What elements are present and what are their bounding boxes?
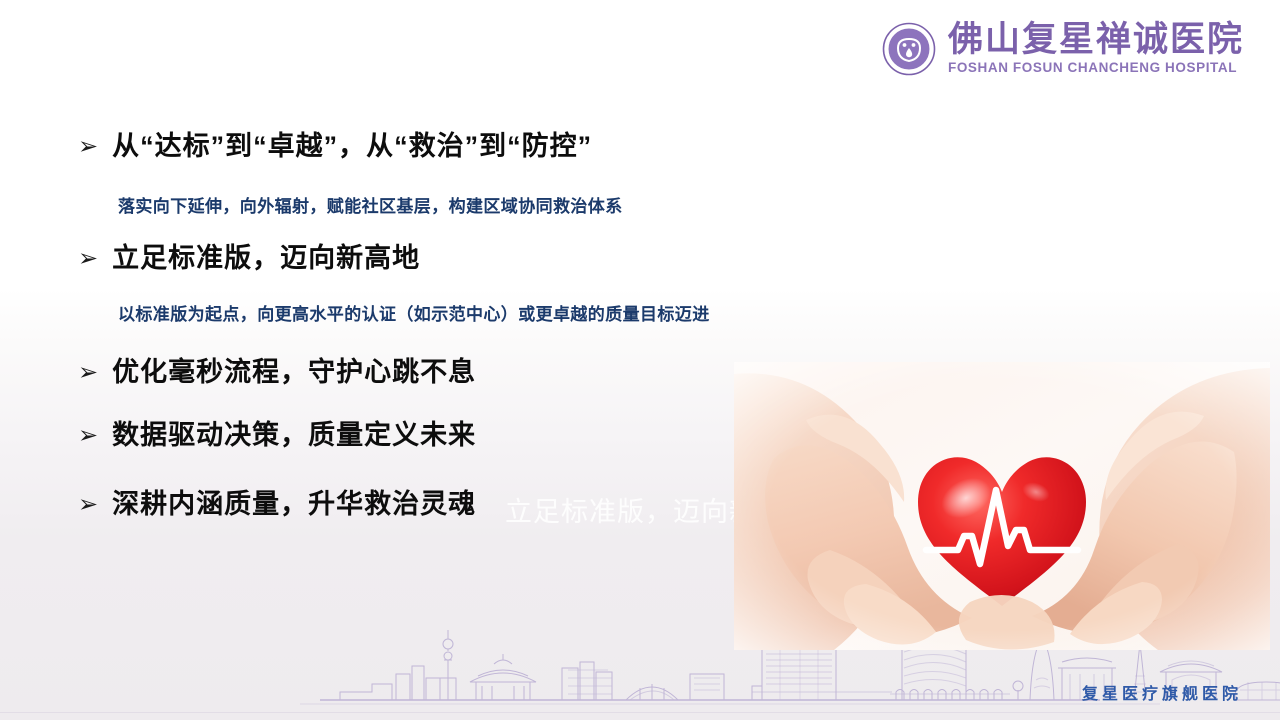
list-item-title: 深耕内涵质量，升华救治灵魂 <box>112 489 476 520</box>
list-item-title: 从“达标”到“卓越”，从“救治”到“防控” <box>112 131 592 162</box>
arrow-bullet-icon: ➢ <box>78 361 98 385</box>
footer-divider <box>0 712 1280 713</box>
logo-text: 佛山复星禅诚医院 FOSHAN FOSUN CHANCHENG HOSPITAL <box>948 22 1244 76</box>
arrow-bullet-icon: ➢ <box>78 135 98 159</box>
list-item-subtitle: 以标准版为起点，向更高水平的认证（如示范中心）或更卓越的质量目标迈进 <box>118 300 710 325</box>
list-item-title: 数据驱动决策，质量定义未来 <box>112 420 476 451</box>
list-item[interactable]: ➢ 深耕内涵质量，升华救治灵魂 <box>78 489 476 520</box>
list-item[interactable]: ➢ 数据驱动决策，质量定义未来 <box>78 420 476 451</box>
footer-brand-text: 复星医疗旗舰医院 <box>1082 680 1242 704</box>
list-item[interactable]: ➢ 优化毫秒流程，守护心跳不息 <box>78 357 476 388</box>
list-item[interactable]: ➢ 立足标准版，迈向新高地 <box>78 243 420 274</box>
list-item-title: 立足标准版，迈向新高地 <box>112 243 420 274</box>
logo-name-cn: 佛山复星禅诚医院 <box>948 22 1244 59</box>
arrow-bullet-icon: ➢ <box>78 424 98 448</box>
logo-name-en: FOSHAN FOSUN CHANCHENG HOSPITAL <box>948 61 1237 76</box>
hospital-seal-icon <box>882 22 936 76</box>
list-item-title: 优化毫秒流程，守护心跳不息 <box>112 357 476 388</box>
hospital-logo: 佛山复星禅诚医院 FOSHAN FOSUN CHANCHENG HOSPITAL <box>882 22 1244 76</box>
heart-in-hands-photo <box>734 362 1270 650</box>
list-item-subtitle: 落实向下延伸，向外辐射，赋能社区基层，构建区域协同救治体系 <box>118 192 623 217</box>
arrow-bullet-icon: ➢ <box>78 493 98 517</box>
arrow-bullet-icon: ➢ <box>78 247 98 271</box>
slide-canvas: 佛山复星禅诚医院 FOSHAN FOSUN CHANCHENG HOSPITAL… <box>0 0 1280 720</box>
list-item[interactable]: ➢ 从“达标”到“卓越”，从“救治”到“防控” <box>78 131 592 162</box>
